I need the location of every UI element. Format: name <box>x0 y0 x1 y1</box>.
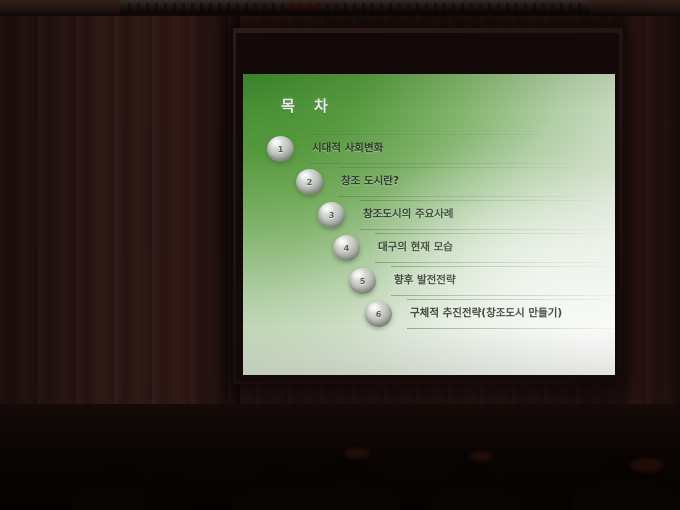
agenda-item-label: 창조도시의 주요사례 <box>363 206 454 221</box>
bullet-number: 6 <box>365 301 392 327</box>
row-separator-bottom <box>360 229 615 230</box>
sphere-bullet-icon: 1 <box>267 136 294 162</box>
sphere-bullet-icon: 3 <box>318 202 345 228</box>
sphere-bullet-icon: 4 <box>333 235 360 261</box>
slide-title: 목 차 <box>281 95 335 116</box>
auditorium-photo: 목 차 1 시대적 사회변화 2 창조 도시란? <box>0 0 680 510</box>
agenda-item-label: 시대적 사회변화 <box>312 140 383 155</box>
row-separator-top <box>375 233 615 234</box>
row-separator-top <box>338 167 593 168</box>
row-separator-bottom <box>375 262 615 263</box>
row-separator-bottom <box>338 196 603 197</box>
sphere-bullet-icon: 2 <box>296 169 323 195</box>
audience-rim-light <box>470 452 492 461</box>
row-separator-top <box>407 299 615 300</box>
bullet-number: 5 <box>349 268 376 294</box>
row-separator-top <box>309 134 579 135</box>
agenda-item-label: 대구의 현재 모습 <box>378 239 453 254</box>
agenda-item-2[interactable]: 2 창조 도시란? <box>296 167 615 197</box>
row-separator-top <box>391 266 615 267</box>
sphere-bullet-icon: 6 <box>365 301 392 327</box>
audience-rim-light <box>630 458 664 472</box>
row-separator-bottom <box>407 328 615 329</box>
agenda-list: 1 시대적 사회변화 2 창조 도시란? 3 창조도시의 주요사례 <box>243 134 615 374</box>
agenda-item-3[interactable]: 3 창조도시의 주요사례 <box>318 200 615 230</box>
audience-rim-light <box>344 448 370 458</box>
bullet-number: 2 <box>296 169 323 195</box>
banner-shadow-overlay <box>120 0 590 14</box>
audience-head <box>524 476 564 510</box>
row-separator-bottom <box>309 163 589 164</box>
agenda-item-label: 구체적 추진전략(창조도시 만들기) <box>410 305 562 320</box>
agenda-item-5[interactable]: 5 향후 발전전략 <box>349 266 615 296</box>
audience-silhouettes <box>0 404 680 510</box>
audience-head <box>146 476 186 510</box>
audience-shoulders <box>296 480 400 510</box>
audience-shoulders <box>426 484 520 510</box>
stage-curtain-left <box>0 10 240 450</box>
agenda-item-6[interactable]: 6 구체적 추진전략(창조도시 만들기) <box>365 299 615 329</box>
agenda-item-label: 향후 발전전략 <box>394 272 456 287</box>
agenda-item-1[interactable]: 1 시대적 사회변화 <box>267 134 597 164</box>
row-separator-bottom <box>391 295 615 296</box>
bullet-number: 3 <box>318 202 345 228</box>
sphere-bullet-icon: 5 <box>349 268 376 294</box>
agenda-item-4[interactable]: 4 대구의 현재 모습 <box>333 233 615 263</box>
agenda-item-label: 창조 도시란? <box>341 173 399 188</box>
bullet-number: 1 <box>267 136 294 162</box>
projected-slide: 목 차 1 시대적 사회변화 2 창조 도시란? <box>243 74 615 375</box>
audience-shoulders <box>572 478 680 510</box>
row-separator-top <box>360 200 608 201</box>
bullet-number: 4 <box>333 235 360 261</box>
